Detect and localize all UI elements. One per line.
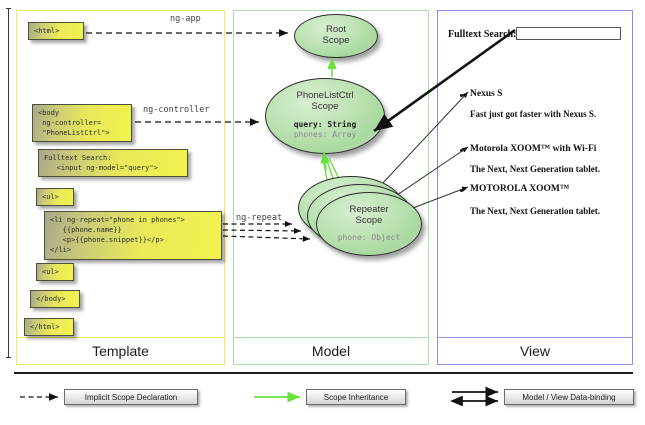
column-model-label: Model — [234, 337, 428, 364]
legend-divider — [14, 372, 633, 374]
code-box-li-repeat: <li ng-repeat="phone in phones"> {{phone… — [44, 211, 222, 260]
legend-item-model-view-data-binding: Model / View Data-binding — [504, 389, 634, 405]
column-model-body — [234, 11, 428, 338]
code-box-body-close: </body> — [30, 290, 80, 308]
column-view-body: Fulltext Search: Nexus S Fast just got f… — [438, 11, 632, 338]
phonelistctrl-scope-title-line2: Scope — [312, 102, 339, 113]
legend-item-scope-inheritance: Scope Inheritance — [306, 389, 406, 405]
phonelistctrl-scope-field-query: query: String — [294, 120, 357, 130]
list-bullet — [460, 149, 463, 152]
connector-label-ng-repeat: ng-repeat — [236, 213, 282, 223]
phone-snippet: The Next, Next Generation tablet. — [470, 164, 600, 174]
page-frame-tick-bottom — [6, 357, 11, 358]
connector-label-ng-app: ng-app — [170, 14, 201, 24]
phonelistctrl-scope-field-phones: phones: Array — [294, 130, 357, 140]
repeater-scope-field-phone: phone: Object — [338, 233, 401, 243]
repeater-scope-title-line2: Scope — [356, 216, 383, 227]
diagram-canvas: Template <html> <body ng-controller= "Ph… — [0, 0, 645, 425]
code-box-ul-close: <ul> — [36, 263, 74, 281]
list-bullet — [460, 189, 463, 192]
code-box-html-close: </html> — [24, 318, 74, 336]
list-bullet — [460, 94, 463, 97]
code-box-html-open: <html> — [28, 22, 84, 40]
code-box-ul-open: <ul> — [36, 188, 74, 206]
phone-name: MOTOROLA XOOM™ — [470, 184, 569, 194]
phonelistctrl-scope: PhoneListCtrl Scope query: String phones… — [265, 78, 385, 154]
page-frame-tick-top — [6, 8, 11, 9]
column-view: Fulltext Search: Nexus S Fast just got f… — [437, 10, 633, 365]
column-template-label: Template — [17, 337, 224, 364]
phone-name: Motorola XOOM™ with Wi-Fi — [470, 144, 596, 154]
code-box-body-open: <body ng-controller= "PhoneListCtrl"> — [32, 104, 132, 142]
phone-name: Nexus S — [470, 89, 502, 99]
fulltext-search-label: Fulltext Search: — [448, 29, 516, 40]
phone-snippet: The Next, Next Generation tablet. — [470, 206, 600, 216]
root-scope-title-line2: Scope — [323, 36, 350, 47]
legend-arrow-databinding — [452, 392, 498, 401]
legend-item-implicit-scope-declaration: Implicit Scope Declaration — [64, 389, 198, 405]
code-box-input: Fulltext Search: <input ng-model="query"… — [38, 149, 188, 177]
column-view-label: View — [438, 337, 632, 364]
page-frame-edge — [8, 8, 9, 358]
fulltext-search-input[interactable] — [516, 27, 621, 40]
repeater-scope: Repeater Scope phone: Object — [316, 192, 422, 256]
root-scope: Root Scope — [294, 14, 378, 58]
connector-label-ng-controller: ng-controller — [143, 105, 210, 115]
phone-snippet: Fast just got faster with Nexus S. — [470, 109, 596, 119]
